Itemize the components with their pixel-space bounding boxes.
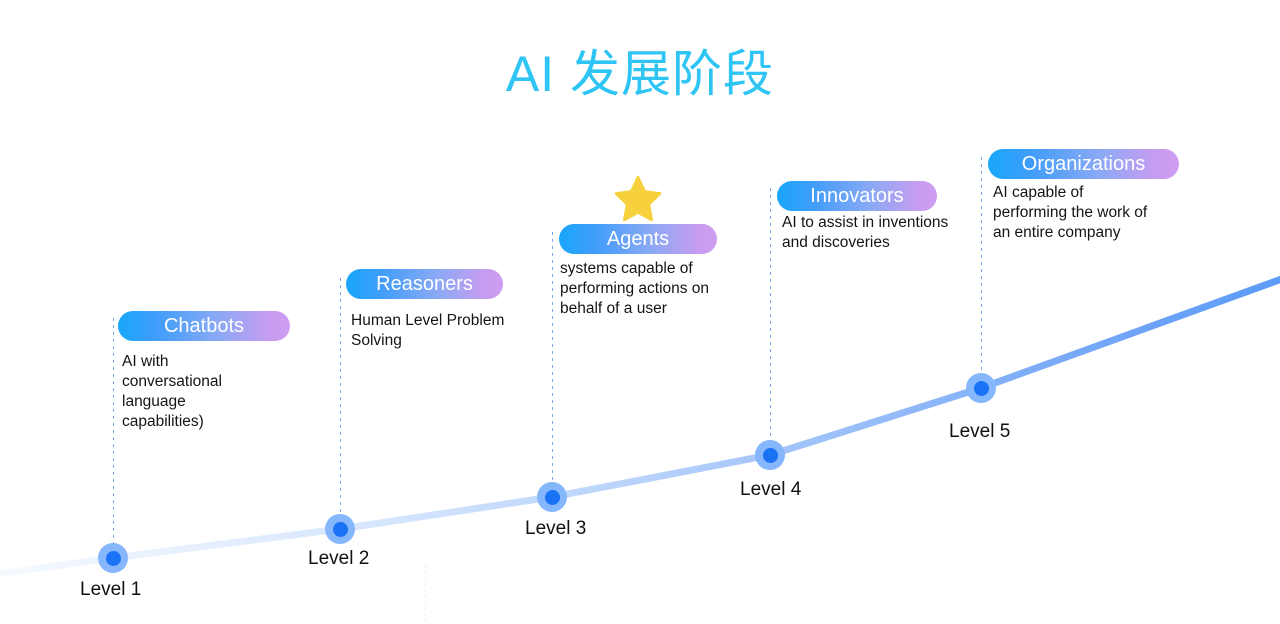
stage-description-5: AI capable of performing the work of an … xyxy=(993,183,1193,243)
connector-line-1 xyxy=(113,318,114,552)
connector-line-4 xyxy=(770,188,771,450)
node-dot-2[interactable] xyxy=(325,514,355,544)
node-label-3: Level 3 xyxy=(525,517,586,541)
node-label-2: Level 2 xyxy=(308,547,369,571)
node-dot-4[interactable] xyxy=(755,440,785,470)
node-label-1: Level 1 xyxy=(80,578,141,602)
connector-line-3 xyxy=(552,232,553,492)
stage-description-2: Human Level Problem Solving xyxy=(351,311,571,351)
stage-pill-5[interactable]: Organizations xyxy=(988,149,1179,179)
stage-description-1: AI with conversational language capabili… xyxy=(122,352,322,432)
stage-description-3: systems capable of performing actions on… xyxy=(560,259,760,319)
node-label-4: Level 4 xyxy=(740,478,801,502)
stage-pill-3[interactable]: Agents xyxy=(559,224,717,254)
connector-line-2 xyxy=(340,278,341,523)
stage-pill-2[interactable]: Reasoners xyxy=(346,269,503,299)
node-dot-3[interactable] xyxy=(537,482,567,512)
stage-pill-4[interactable]: Innovators xyxy=(777,181,937,211)
star-icon xyxy=(614,176,662,222)
node-label-5: Level 5 xyxy=(949,420,1010,444)
node-dot-5[interactable] xyxy=(966,373,996,403)
stage-pill-1[interactable]: Chatbots xyxy=(118,311,290,341)
page-title: AI 发展阶段 xyxy=(0,44,1280,104)
node-dot-1[interactable] xyxy=(98,543,128,573)
page-guide-line xyxy=(425,565,426,624)
connector-line-5 xyxy=(981,157,982,383)
stage-description-4: AI to assist in inventions and discoveri… xyxy=(782,213,997,253)
